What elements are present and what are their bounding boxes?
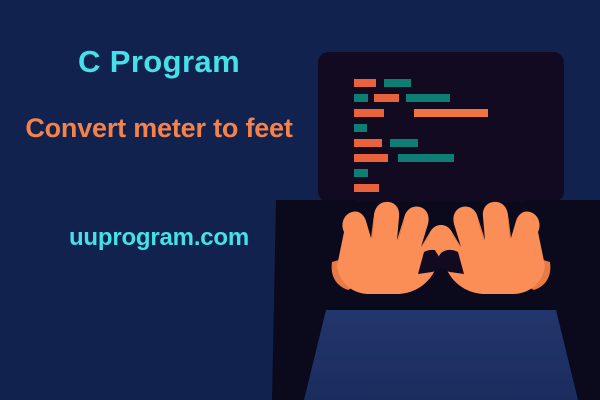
code-token xyxy=(354,184,379,192)
code-token xyxy=(384,79,411,87)
code-token xyxy=(354,169,368,177)
code-token xyxy=(374,94,399,102)
code-token xyxy=(354,109,384,117)
laptop-illustration xyxy=(0,0,600,400)
code-token xyxy=(354,139,382,147)
code-token xyxy=(354,79,376,87)
code-token xyxy=(354,94,368,102)
poster-canvas: C Program Convert meter to feet uuprogra… xyxy=(0,0,600,400)
code-token xyxy=(398,154,454,162)
code-token xyxy=(354,124,367,132)
laptop-base-deck xyxy=(282,307,600,400)
code-token xyxy=(406,94,450,102)
code-token xyxy=(390,139,418,147)
code-token xyxy=(414,109,488,117)
code-token xyxy=(354,154,388,162)
